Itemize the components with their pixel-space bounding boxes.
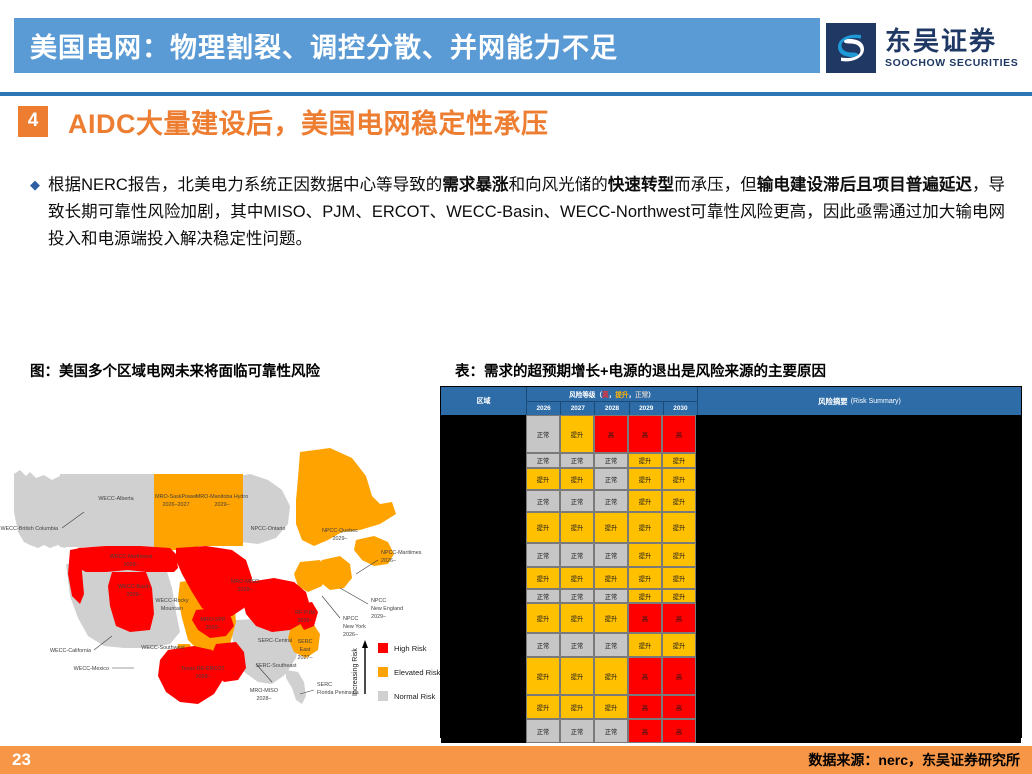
risk-cell-2026-normal: 正常	[526, 453, 560, 468]
map-label-npcc-new-york-year: 2026–	[343, 632, 358, 638]
risk-cell-2026-normal: 正常	[526, 415, 560, 453]
section-number-badge: 4	[18, 106, 48, 137]
risk-cell-2027-normal: 正常	[560, 490, 594, 512]
levels-suffix: ）	[648, 389, 655, 399]
risk-row-level-cells: 正常正常正常提升提升	[526, 543, 696, 567]
risk-cell-2030-elevated: 提升	[662, 453, 696, 468]
table-row: 正常正常正常提升提升	[441, 543, 1021, 567]
risk-cell-2029-elevated: 提升	[628, 490, 662, 512]
risk-table-header-row: 区域 风险等级（高，提升，正常） 20262027202820292030 风险…	[441, 387, 1021, 415]
level-elevated-word: 提升	[615, 389, 628, 399]
body-paragraph-block: ◆ 根据NERC报告，北美电力系统正因数据中心等导致的需求暴涨和向风光储的快速转…	[30, 172, 1005, 253]
risk-cell-2028-normal: 正常	[594, 453, 628, 468]
risk-row-region-cell	[441, 512, 526, 543]
risk-cell-2028-elevated: 提升	[594, 603, 628, 633]
levels-prefix: 风险等级（	[569, 389, 602, 399]
map-label-mro-manitoba: MRO-Manitoba Hydro	[196, 494, 248, 500]
risk-cell-2030-elevated: 提升	[662, 543, 696, 567]
legend-axis-label: Increasing Risk	[352, 648, 359, 696]
risk-cell-2028-normal: 正常	[594, 490, 628, 512]
risk-table-header-region: 区域	[441, 387, 527, 415]
map-label-mro-miso-north-year: 2028–	[238, 587, 253, 593]
table-row: 提升提升提升提升提升	[441, 567, 1021, 589]
legend-label-elevated: Elevated Risk	[394, 668, 440, 677]
risk-row-region-cell	[441, 468, 526, 490]
nerc-risk-map-figure: WECC-Alberta MRO-SaskPower 2026–2027 MRO…	[0, 382, 440, 734]
risk-cell-2029-elevated: 提升	[628, 543, 662, 567]
legend-swatch-high	[378, 643, 388, 653]
map-label-wecc-alberta: WECC-Alberta	[98, 496, 133, 502]
map-label-npcc-new-england-year: 2029–	[371, 614, 386, 620]
map-label-wecc-basin: WECC-Basin	[118, 584, 150, 590]
map-label-mro-manitoba-year: 2029–	[215, 502, 230, 508]
risk-row-region-cell	[441, 567, 526, 589]
header-banner-title: 美国电网：物理割裂、调控分散、并网能力不足	[14, 26, 618, 65]
risk-cell-2027-elevated: 提升	[560, 415, 594, 453]
risk-cell-2028-elevated: 提升	[594, 657, 628, 695]
risk-row-region-cell	[441, 695, 526, 719]
risk-row-region-cell	[441, 543, 526, 567]
risk-row-level-cells: 正常正常正常提升提升	[526, 589, 696, 603]
risk-table-header-levels-legend: 风险等级（高，提升，正常）	[527, 387, 697, 402]
risk-cell-2027-normal: 正常	[560, 543, 594, 567]
map-label-wecc-british-columbia: WECC-British Columbia	[0, 526, 58, 532]
risk-cell-2027-normal: 正常	[560, 633, 594, 657]
risk-row-summary-cell	[696, 543, 1021, 567]
risk-row-level-cells: 正常提升高高高	[526, 415, 696, 453]
risk-cell-2027-normal: 正常	[560, 453, 594, 468]
risk-cell-2030-high: 高	[662, 695, 696, 719]
risk-cell-2026-elevated: 提升	[526, 657, 560, 695]
map-label-npcc-new-york: NPCC	[343, 616, 358, 622]
risk-cell-2028-elevated: 提升	[594, 512, 628, 543]
map-label-serc-central: SERC-Central	[258, 638, 292, 644]
risk-cell-2028-high: 高	[594, 415, 628, 453]
map-label-serc-southeast: SERC-Southeast	[255, 663, 297, 669]
logo-text-cn: 东吴证券	[885, 28, 1018, 54]
risk-cell-2029-high: 高	[628, 603, 662, 633]
risk-row-summary-cell	[696, 719, 1021, 743]
map-label-texas-re-ercot-year: 2029–	[196, 674, 211, 680]
page-number: 23	[12, 750, 31, 770]
map-label-wecc-mexico: WECC-Mexico	[74, 666, 109, 672]
risk-row-summary-cell	[696, 633, 1021, 657]
map-label-wecc-rocky-mountain: WECC-Rocky	[155, 598, 189, 604]
map-label-serc-east: SERC	[298, 639, 313, 645]
risk-cell-2029-high: 高	[628, 657, 662, 695]
risk-table-year-2026: 2026	[527, 402, 561, 415]
map-label-mro-miso-north: MRO-MISO	[231, 579, 259, 585]
map-label-wecc-california: WECC-California	[50, 648, 91, 654]
risk-cell-2027-elevated: 提升	[560, 603, 594, 633]
table-row: 提升提升提升提升提升	[441, 512, 1021, 543]
risk-summary-table: 区域 风险等级（高，提升，正常） 20262027202820292030 风险…	[440, 386, 1022, 738]
table-row: 提升提升提升高高	[441, 695, 1021, 719]
risk-table-year-2027: 2027	[561, 402, 595, 415]
risk-cell-2026-elevated: 提升	[526, 695, 560, 719]
map-label-wecc-southwest: WECC-Southwest	[141, 645, 185, 651]
risk-row-region-cell	[441, 453, 526, 468]
body-paragraph-text: 根据NERC报告，北美电力系统正因数据中心等导致的需求暴涨和向风光储的快速转型而…	[48, 172, 1005, 253]
risk-cell-2028-normal: 正常	[594, 589, 628, 603]
map-label-mro-spp-year: 2026–	[206, 625, 221, 631]
level-normal-word: 正常	[635, 389, 648, 399]
soochow-swirl-logo-icon	[826, 23, 876, 73]
risk-cell-2030-elevated: 提升	[662, 567, 696, 589]
risk-table-year-header-row: 20262027202820292030	[527, 402, 697, 415]
map-label-texas-re-ercot: Texas RE-ERCOT	[181, 666, 225, 672]
risk-cell-2030-elevated: 提升	[662, 468, 696, 490]
legend-label-high: High Risk	[394, 644, 427, 653]
risk-row-level-cells: 提升提升正常提升提升	[526, 468, 696, 490]
risk-row-region-cell	[441, 490, 526, 512]
legend-swatch-normal	[378, 691, 388, 701]
risk-cell-2028-normal: 正常	[594, 719, 628, 743]
risk-table-header-years: 风险等级（高，提升，正常） 20262027202820292030	[527, 387, 697, 415]
figure-caption-right: 表：需求的超预期增长+电源的退出是风险来源的主要原因	[455, 360, 826, 381]
legend-label-normal: Normal Risk	[394, 692, 436, 701]
risk-row-level-cells: 提升提升提升高高	[526, 695, 696, 719]
logo-text: 东吴证券 SOOCHOW SECURITIES	[885, 28, 1018, 69]
map-label-serc-florida: SERC	[317, 682, 332, 688]
risk-row-summary-cell	[696, 567, 1021, 589]
risk-row-region-cell	[441, 415, 526, 453]
section-heading: 4 AIDC大量建设后，美国电网稳定性承压	[18, 104, 549, 138]
risk-row-level-cells: 提升提升提升提升提升	[526, 567, 696, 589]
risk-cell-2027-normal: 正常	[560, 719, 594, 743]
risk-row-summary-cell	[696, 490, 1021, 512]
table-row: 正常正常正常提升提升	[441, 589, 1021, 603]
risk-cell-2026-normal: 正常	[526, 543, 560, 567]
figure-caption-left: 图：美国多个区域电网未来将面临可靠性风险	[30, 360, 320, 381]
risk-row-region-cell	[441, 719, 526, 743]
map-label-npcc-quebec: NPCC-Quebec	[322, 528, 358, 534]
map-label-npcc-new-york-2: New York	[343, 624, 366, 630]
map-label-wecc-northwest: WECC-Northwest	[110, 554, 153, 560]
map-label-mro-saskpower: MRO-SaskPower	[155, 494, 197, 500]
map-label-npcc-new-england: NPCC	[371, 598, 386, 604]
risk-row-summary-cell	[696, 468, 1021, 490]
risk-cell-2026-elevated: 提升	[526, 567, 560, 589]
risk-row-level-cells: 提升提升提升提升提升	[526, 512, 696, 543]
risk-cell-2027-elevated: 提升	[560, 512, 594, 543]
risk-cell-2029-elevated: 提升	[628, 567, 662, 589]
risk-cell-2026-elevated: 提升	[526, 603, 560, 633]
bullet-diamond-icon: ◆	[30, 172, 40, 198]
risk-row-level-cells: 正常正常正常提升提升	[526, 633, 696, 657]
map-label-mro-spp: MRO-SPP	[200, 617, 226, 623]
risk-row-level-cells: 正常正常正常高高	[526, 719, 696, 743]
risk-row-level-cells: 提升提升提升高高	[526, 657, 696, 695]
map-label-npcc-maritimes: NPCC-Maritimes	[381, 550, 422, 556]
risk-cell-2027-normal: 正常	[560, 589, 594, 603]
risk-table-year-2028: 2028	[595, 402, 629, 415]
map-label-rf-pjm: RF-PJM	[295, 610, 315, 616]
risk-cell-2030-high: 高	[662, 415, 696, 453]
map-label-wecc-basin-year: 2029–	[127, 592, 142, 598]
risk-table-year-2030: 2030	[664, 402, 697, 415]
risk-cell-2030-elevated: 提升	[662, 633, 696, 657]
risk-cell-2029-elevated: 提升	[628, 468, 662, 490]
risk-cell-2029-elevated: 提升	[628, 633, 662, 657]
header-divider-rule	[0, 92, 1032, 96]
risk-cell-2026-normal: 正常	[526, 719, 560, 743]
risk-row-region-cell	[441, 657, 526, 695]
risk-cell-2030-high: 高	[662, 603, 696, 633]
risk-row-summary-cell	[696, 695, 1021, 719]
risk-cell-2030-elevated: 提升	[662, 589, 696, 603]
map-label-wecc-rocky-mountain-2: Mountain	[161, 606, 183, 612]
risk-row-summary-cell	[696, 415, 1021, 453]
risk-cell-2030-high: 高	[662, 719, 696, 743]
risk-cell-2027-elevated: 提升	[560, 695, 594, 719]
logo-text-en: SOOCHOW SECURITIES	[885, 58, 1018, 69]
map-label-mro-saskpower-year: 2026–2027	[163, 502, 190, 508]
map-label-wecc-northwest-year: 2029–	[124, 562, 139, 568]
risk-row-region-cell	[441, 603, 526, 633]
risk-cell-2029-elevated: 提升	[628, 512, 662, 543]
risk-cell-2026-normal: 正常	[526, 633, 560, 657]
risk-cell-2028-normal: 正常	[594, 543, 628, 567]
risk-cell-2029-high: 高	[628, 415, 662, 453]
risk-cell-2026-elevated: 提升	[526, 468, 560, 490]
risk-row-region-cell	[441, 633, 526, 657]
risk-cell-2030-elevated: 提升	[662, 490, 696, 512]
risk-cell-2029-high: 高	[628, 719, 662, 743]
map-label-serc-east-2: East	[300, 647, 311, 653]
table-row: 正常正常正常高高	[441, 719, 1021, 743]
risk-cell-2026-normal: 正常	[526, 490, 560, 512]
table-row: 提升提升提升高高	[441, 603, 1021, 633]
risk-cell-2027-elevated: 提升	[560, 567, 594, 589]
risk-row-summary-cell	[696, 657, 1021, 695]
risk-cell-2027-elevated: 提升	[560, 468, 594, 490]
section-title: AIDC大量建设后，美国电网稳定性承压	[68, 102, 549, 141]
table-row: 提升提升提升高高	[441, 657, 1021, 695]
risk-cell-2028-elevated: 提升	[594, 567, 628, 589]
level-sep-1: ，	[609, 389, 616, 399]
nerc-risk-map-svg: WECC-Alberta MRO-SaskPower 2026–2027 MRO…	[0, 382, 440, 734]
risk-row-summary-cell	[696, 512, 1021, 543]
risk-row-level-cells: 正常正常正常提升提升	[526, 490, 696, 512]
risk-cell-2028-normal: 正常	[594, 633, 628, 657]
header-banner: 美国电网：物理割裂、调控分散、并网能力不足	[14, 18, 820, 73]
map-label-mro-miso-south-year: 2028–	[257, 696, 272, 702]
risk-row-summary-cell	[696, 589, 1021, 603]
risk-cell-2028-elevated: 提升	[594, 695, 628, 719]
map-label-npcc-new-england-2: New England	[371, 606, 403, 612]
risk-cell-2027-elevated: 提升	[560, 657, 594, 695]
legend-swatch-elevated	[378, 667, 388, 677]
risk-row-summary-cell	[696, 453, 1021, 468]
risk-cell-2030-high: 高	[662, 657, 696, 695]
table-row: 提升提升正常提升提升	[441, 468, 1021, 490]
risk-row-level-cells: 正常正常正常提升提升	[526, 453, 696, 468]
map-label-npcc-quebec-year: 2029–	[333, 536, 348, 542]
brand-logo: 东吴证券 SOOCHOW SECURITIES	[826, 20, 1022, 76]
risk-cell-2026-normal: 正常	[526, 589, 560, 603]
risk-cell-2029-elevated: 提升	[628, 453, 662, 468]
risk-cell-2026-elevated: 提升	[526, 512, 560, 543]
map-label-npcc-maritimes-year: 2026–	[381, 558, 396, 564]
map-label-npcc-ontario: NPCC-Ontario	[251, 526, 286, 532]
risk-cell-2029-high: 高	[628, 695, 662, 719]
level-high-word: 高	[602, 389, 609, 399]
summary-header-en: (Risk Summary)	[851, 398, 901, 405]
data-source-note: 数据来源：nerc，东吴证券研究所	[808, 750, 1020, 770]
table-row: 正常正常正常提升提升	[441, 453, 1021, 468]
risk-table-header-summary: 风险摘要(Risk Summary)	[697, 387, 1021, 415]
risk-cell-2030-elevated: 提升	[662, 512, 696, 543]
map-label-rf-pjm-year: 2029–	[298, 618, 313, 624]
risk-table-body: 正常提升高高高正常正常正常提升提升提升提升正常提升提升正常正常正常提升提升提升提…	[441, 415, 1021, 743]
table-row: 正常提升高高高	[441, 415, 1021, 453]
risk-cell-2029-elevated: 提升	[628, 589, 662, 603]
table-row: 正常正常正常提升提升	[441, 490, 1021, 512]
risk-row-summary-cell	[696, 603, 1021, 633]
map-label-mro-miso-south: MRO-MISO	[250, 688, 278, 694]
risk-row-level-cells: 提升提升提升高高	[526, 603, 696, 633]
risk-table-year-2029: 2029	[630, 402, 664, 415]
summary-header-cn: 风险摘要	[818, 396, 848, 407]
map-label-serc-east-year: 2027–	[298, 655, 313, 661]
risk-row-region-cell	[441, 589, 526, 603]
level-sep-2: ，	[628, 389, 635, 399]
risk-cell-2028-normal: 正常	[594, 468, 628, 490]
table-row: 正常正常正常提升提升	[441, 633, 1021, 657]
